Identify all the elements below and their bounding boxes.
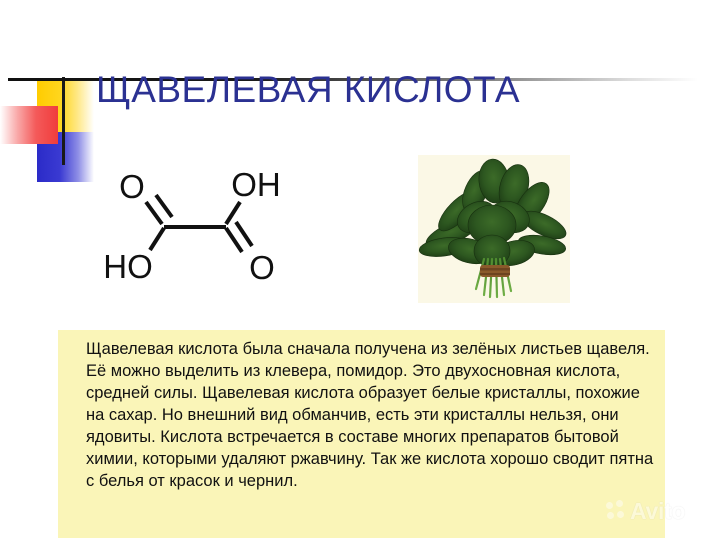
atom-label-top-left-oxygen: O (119, 168, 145, 205)
sorrel-bunch-photo (418, 155, 570, 303)
red-rectangle-shape (0, 106, 58, 144)
description-paragraph: Щавелевая кислота была сначала получена … (86, 338, 655, 492)
oxalic-acid-structure-figure: O OH HO O (104, 166, 304, 291)
atom-label-top-right-hydroxyl: OH (231, 166, 281, 203)
page-title: ЩАВЕЛЕВАЯ КИСЛОТА (96, 68, 696, 112)
atom-label-bottom-right-oxygen: O (249, 249, 275, 286)
atom-label-bottom-left-hydroxyl: HO (104, 248, 153, 285)
vertical-rule-line (62, 77, 65, 165)
description-text-box: Щавелевая кислота была сначала получена … (58, 330, 665, 538)
slide-canvas: ЩАВЕЛЕВАЯ КИСЛОТА O OH HO O (0, 0, 720, 540)
